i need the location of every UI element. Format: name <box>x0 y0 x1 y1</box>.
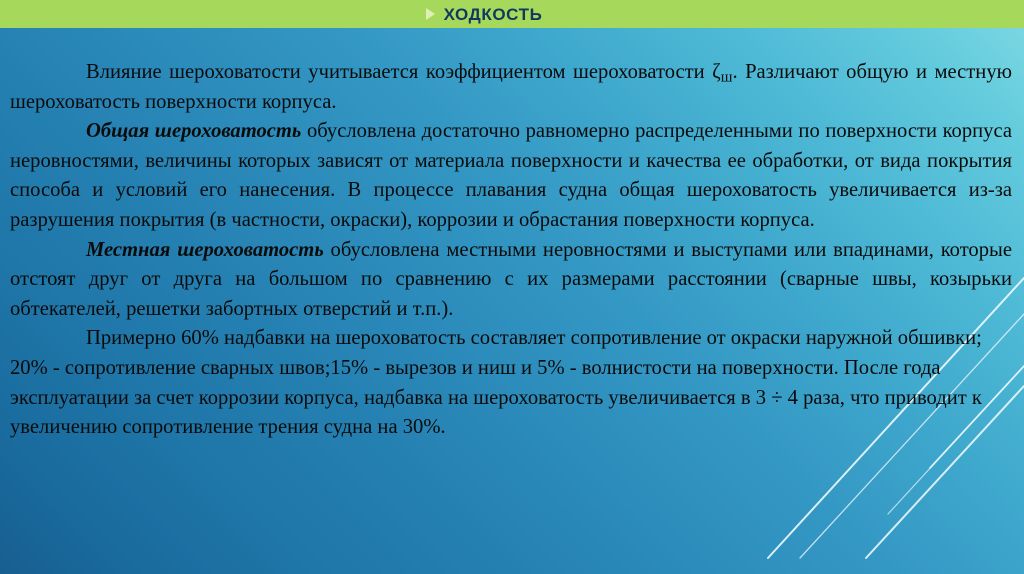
triangle-right-icon <box>426 8 435 20</box>
paragraph-intro: Влияние шероховатости учитывается коэффи… <box>10 58 1012 117</box>
slide-title-group: ХОДКОСТЬ <box>426 6 543 23</box>
paragraph-general-roughness: Общая шероховатость обусловлена достаточ… <box>10 117 1012 235</box>
paragraph-shares: Примерно 60% надбавки на шероховатость с… <box>10 324 1012 442</box>
emphasised-term: Общая шероховатость <box>86 120 301 142</box>
slide: ХОДКОСТЬ Влияние шероховатости учитывает… <box>0 0 1024 574</box>
page-title: ХОДКОСТЬ <box>444 6 543 23</box>
subscript: ш <box>721 68 733 85</box>
emphasised-term: Местная шероховатость <box>86 239 324 261</box>
paragraph-local-roughness: Местная шероховатость обусловлена местны… <box>10 236 1012 325</box>
slide-title-banner: ХОДКОСТЬ <box>0 0 1024 28</box>
slide-body: Влияние шероховатости учитывается коэффи… <box>0 28 1024 574</box>
